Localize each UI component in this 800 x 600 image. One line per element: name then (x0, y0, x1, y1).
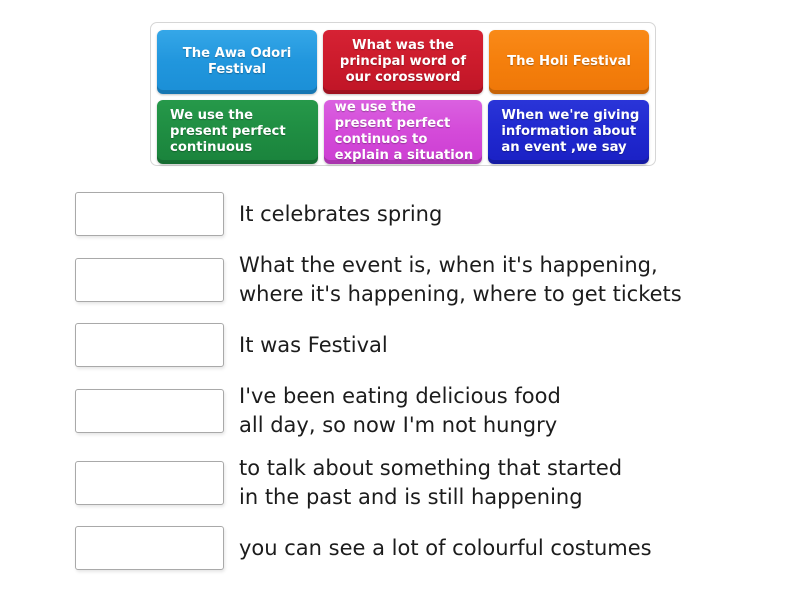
answer-text-1: It celebrates spring (239, 200, 442, 229)
answer-row: I've been eating delicious food all day,… (75, 382, 775, 439)
draggable-tile-principal-word-question[interactable]: What was the principal word of our coros… (323, 30, 483, 94)
tile-label: The Awa Odori Festival (162, 46, 312, 78)
answer-row: to talk about something that started in … (75, 454, 775, 511)
answer-text-5: to talk about something that started in … (239, 454, 622, 511)
drop-zone-1[interactable] (75, 192, 224, 236)
drop-zone-4[interactable] (75, 389, 224, 433)
drop-zone-2[interactable] (75, 258, 224, 302)
tile-label: When we're giving information about an e… (501, 108, 644, 156)
draggable-tile-present-perfect-continuous[interactable]: We use the present perfect continuous (157, 100, 318, 164)
answer-text-4: I've been eating delicious food all day,… (239, 382, 561, 439)
draggable-tile-giving-information[interactable]: When we're giving information about an e… (488, 100, 649, 164)
answer-list: It celebrates spring What the event is, … (75, 192, 775, 585)
draggable-tile-awa-odori-festival[interactable]: The Awa Odori Festival (157, 30, 317, 94)
draggable-tile-holi-festival[interactable]: The Holi Festival (489, 30, 649, 94)
answer-text-2: What the event is, when it's happening, … (239, 251, 682, 308)
drop-zone-6[interactable] (75, 526, 224, 570)
drop-zone-5[interactable] (75, 461, 224, 505)
draggable-tile-explain-a-situation[interactable]: we use the present perfect continuos to … (324, 100, 483, 164)
tile-label: we use the present perfect continuos to … (335, 100, 478, 164)
activity-stage: The Awa Odori Festival What was the prin… (0, 0, 800, 600)
answer-text-6: you can see a lot of colourful costumes (239, 534, 652, 563)
answer-text-3: It was Festival (239, 331, 388, 360)
tile-row-top: The Awa Odori Festival What was the prin… (157, 30, 649, 94)
tile-label: We use the present perfect continuous (170, 108, 313, 156)
answer-row: It was Festival (75, 323, 775, 367)
answer-row: you can see a lot of colourful costumes (75, 526, 775, 570)
drop-zone-3[interactable] (75, 323, 224, 367)
answer-row: It celebrates spring (75, 192, 775, 236)
tile-row-bottom: We use the present perfect continuous we… (157, 100, 649, 164)
tile-label: The Holi Festival (494, 54, 644, 70)
tile-label: What was the principal word of our coros… (328, 38, 478, 86)
answer-row: What the event is, when it's happening, … (75, 251, 775, 308)
tile-bank: The Awa Odori Festival What was the prin… (150, 22, 656, 166)
